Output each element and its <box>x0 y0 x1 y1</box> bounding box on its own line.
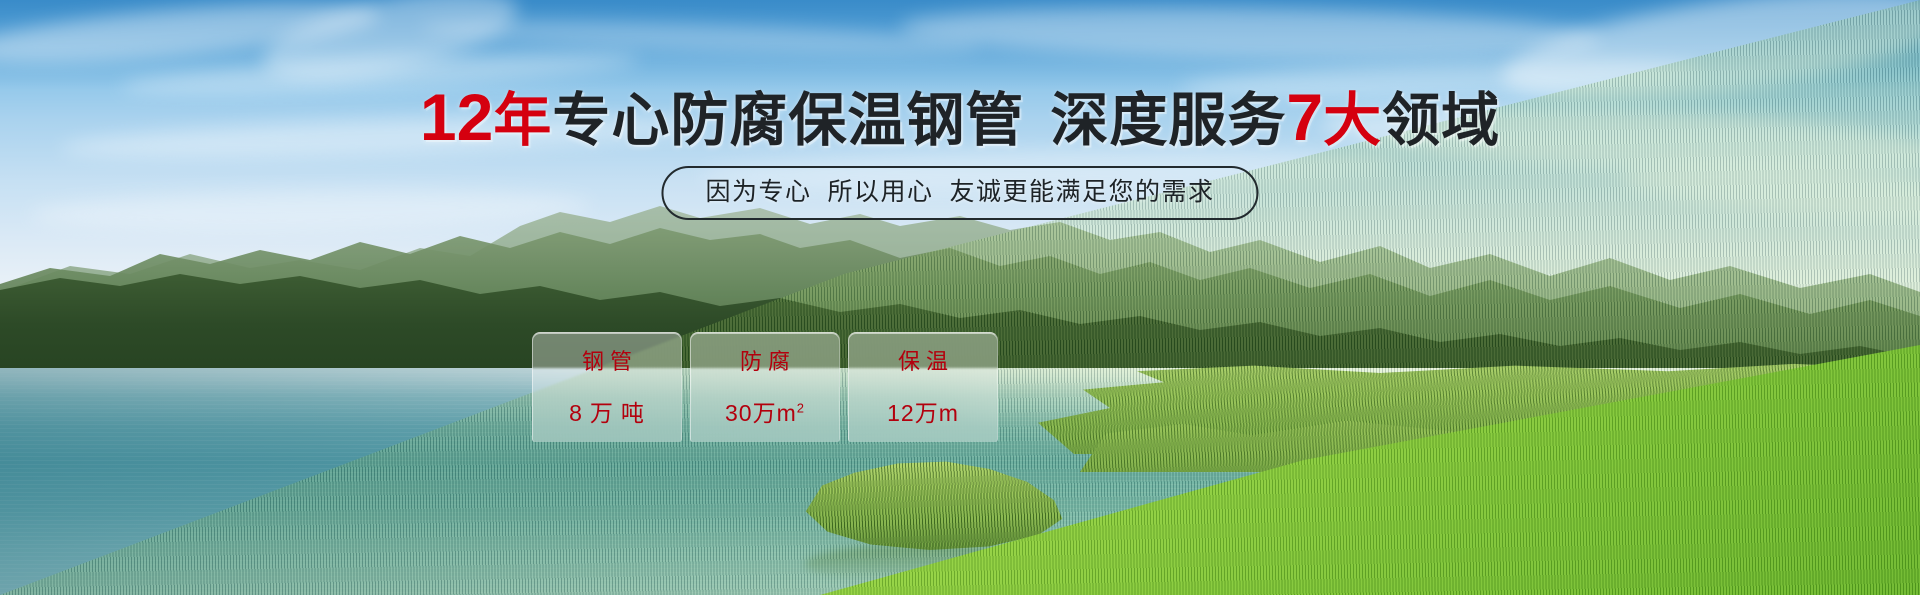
headline-fields-number: 7 <box>1286 80 1323 154</box>
stat-card-value: 30万m2 <box>691 399 839 427</box>
hero-banner: 12年专心防腐保温钢管深度服务7大领域 因为专心所以用心友诚更能满足您的需求 钢… <box>0 0 1920 595</box>
headline-fields-text: 领域 <box>1382 88 1500 153</box>
stat-card-title: 钢管 <box>533 347 681 377</box>
stat-value-unit: 万 <box>753 400 777 426</box>
cloud-wisp-icon <box>30 185 591 235</box>
subtitle-part-3: 友诚更能满足您的需求 <box>950 178 1215 206</box>
stat-value-suffix: m <box>777 400 797 426</box>
stat-value-number: 12 <box>887 400 915 426</box>
stat-value-unit: 万 <box>590 400 614 426</box>
stat-value-suffix: 吨 <box>621 400 645 426</box>
stat-card-title: 保温 <box>849 347 997 377</box>
stat-value-unit: 万 <box>915 400 939 426</box>
banner-headline: 12年专心防腐保温钢管深度服务7大领域 <box>0 86 1920 152</box>
stat-value-number: 30 <box>725 400 753 426</box>
stat-card-group: 钢管 8万吨 防腐 30万m2 保温 12万m <box>532 332 998 442</box>
subtitle-part-2: 所以用心 <box>827 178 933 206</box>
headline-years-unit: 年 <box>493 88 552 153</box>
subtitle-part-1: 因为专心 <box>705 178 811 206</box>
stat-card-anticorrosion: 防腐 30万m2 <box>690 332 840 442</box>
headline-fields-unit: 大 <box>1323 88 1382 153</box>
stat-card-value: 12万m <box>849 399 997 427</box>
stat-card-value: 8万吨 <box>533 399 681 427</box>
stat-card-insulation: 保温 12万m <box>848 332 998 442</box>
headline-service-text: 深度服务 <box>1050 88 1286 153</box>
stat-card-title: 防腐 <box>691 347 839 377</box>
headline-main-text: 专心防腐保温钢管 <box>552 88 1024 153</box>
headline-years-number: 12 <box>420 80 493 154</box>
banner-subtitle-pill: 因为专心所以用心友诚更能满足您的需求 <box>661 166 1258 220</box>
stat-value-number: 8 <box>569 400 583 426</box>
stat-value-superscript: 2 <box>797 400 805 415</box>
stat-card-steel-pipe: 钢管 8万吨 <box>532 332 682 442</box>
stat-value-suffix: m <box>939 400 959 426</box>
